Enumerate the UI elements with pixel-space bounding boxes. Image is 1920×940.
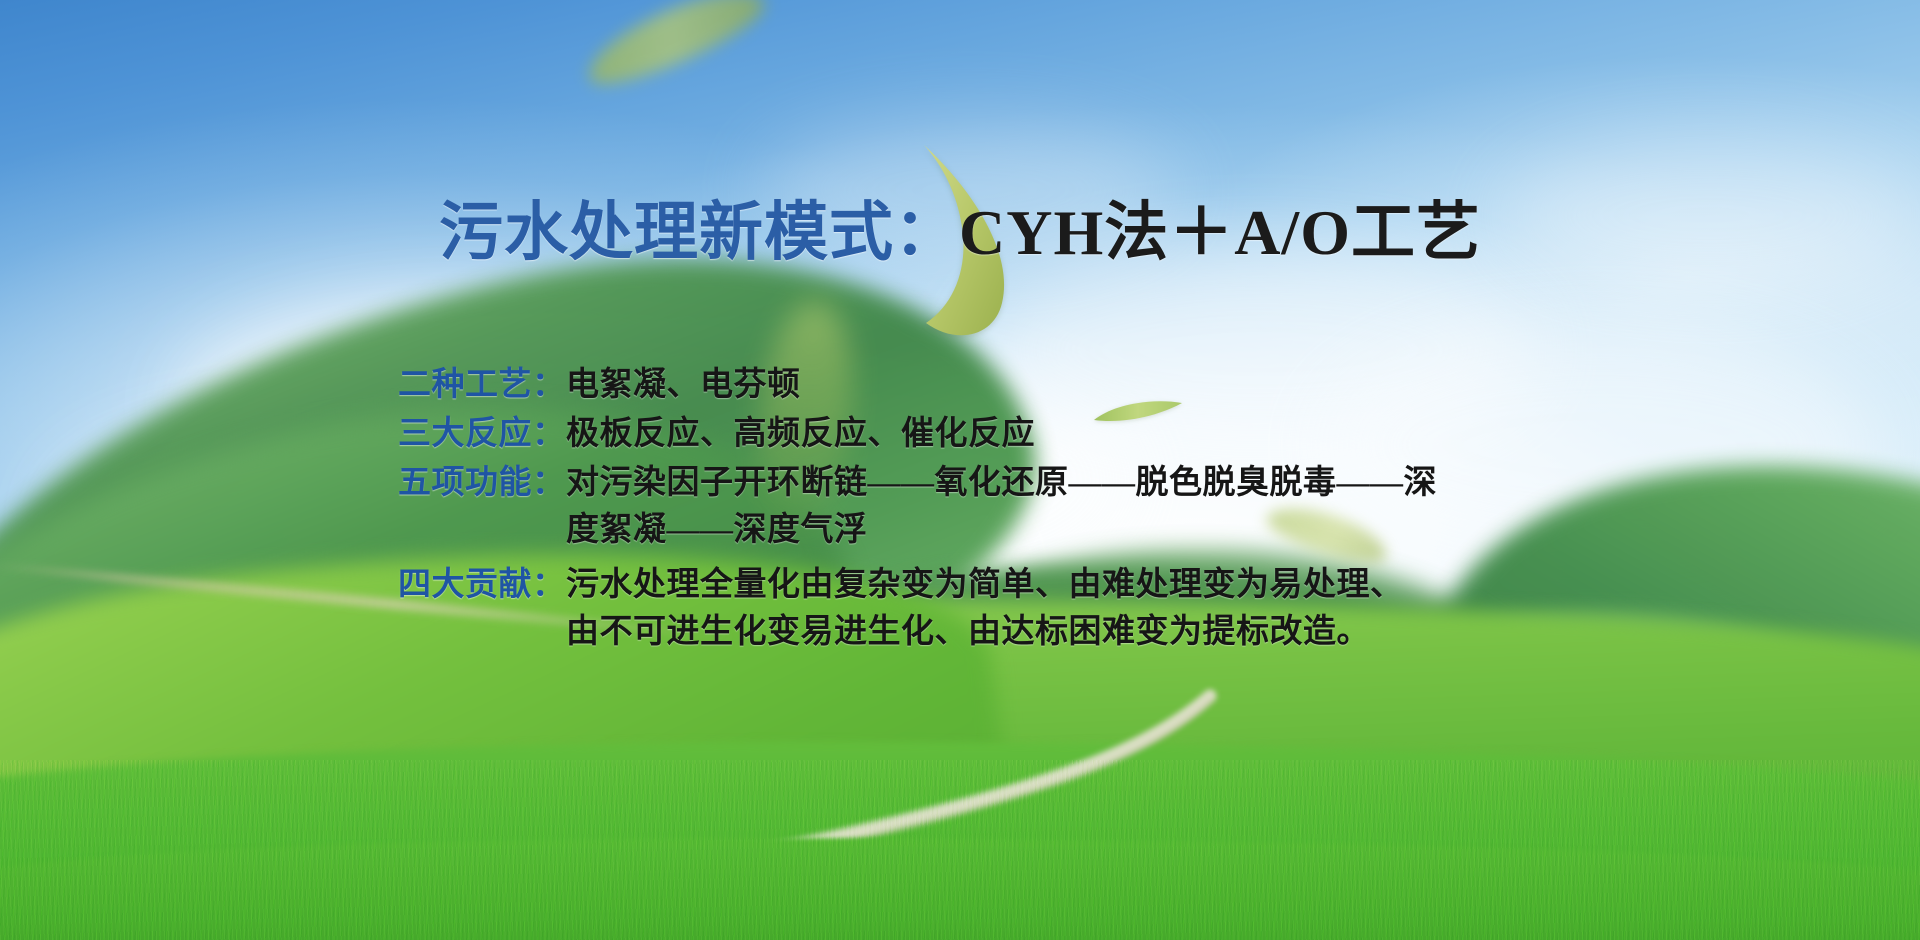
list-item-line: 污水处理全量化由复杂变为简单、由难处理变为易处理、	[566, 562, 1458, 609]
list-item: 五项功能： 对污染因子开环断链——氧化还原——脱色脱臭脱毒——深 度絮凝——深度…	[398, 460, 1458, 554]
page-title-blue-part: 污水处理新模式：	[439, 197, 959, 268]
list-item-line: 对污染因子开环断链——氧化还原——脱色脱臭脱毒——深	[566, 460, 1458, 507]
meadow-foreground	[0, 838, 1920, 940]
list-item-value: 极板反应、高频反应、催化反应	[566, 411, 1458, 458]
list-item: 四大贡献： 污水处理全量化由复杂变为简单、由难处理变为易处理、 由不可进生化变易…	[398, 562, 1458, 656]
list-item-line: 电絮凝、电芬顿	[566, 362, 1458, 409]
content-list: 二种工艺： 电絮凝、电芬顿 三大反应： 极板反应、高频反应、催化反应 五项功能：…	[398, 362, 1458, 658]
list-item-label: 四大贡献：	[398, 562, 566, 609]
list-item-line: 极板反应、高频反应、催化反应	[566, 411, 1458, 458]
page-title-dark-part: CYH法＋A/O工艺	[959, 197, 1481, 268]
list-item-line: 度絮凝——深度气浮	[566, 507, 1458, 554]
list-item: 二种工艺： 电絮凝、电芬顿	[398, 362, 1458, 409]
slide-canvas: 污水处理新模式：CYH法＋A/O工艺 二种工艺： 电絮凝、电芬顿 三大反应： 极…	[0, 0, 1920, 940]
list-item-label: 三大反应：	[398, 411, 566, 458]
list-item-value: 对污染因子开环断链——氧化还原——脱色脱臭脱毒——深 度絮凝——深度气浮	[566, 460, 1458, 554]
list-item-label: 五项功能：	[398, 460, 566, 507]
list-item: 三大反应： 极板反应、高频反应、催化反应	[398, 411, 1458, 458]
page-title: 污水处理新模式：CYH法＋A/O工艺	[0, 196, 1920, 270]
list-item-value: 电絮凝、电芬顿	[566, 362, 1458, 409]
list-item-value: 污水处理全量化由复杂变为简单、由难处理变为易处理、 由不可进生化变易进生化、由达…	[566, 562, 1458, 656]
list-item-label: 二种工艺：	[398, 362, 566, 409]
list-item-line: 由不可进生化变易进生化、由达标困难变为提标改造。	[566, 609, 1458, 656]
